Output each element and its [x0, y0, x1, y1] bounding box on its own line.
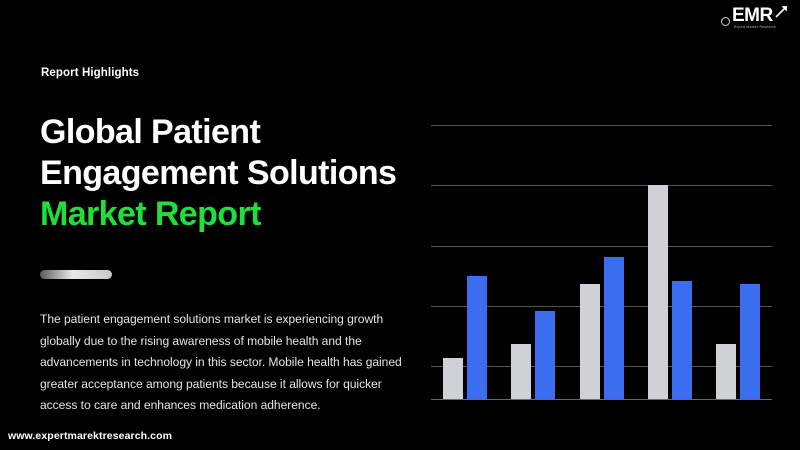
bar-1-1 — [443, 358, 463, 399]
body-paragraph: The patient engagement solutions market … — [40, 309, 420, 417]
page-title: Global Patient Engagement Solutions Mark… — [40, 112, 440, 235]
title-line-2: Engagement Solutions — [40, 153, 440, 194]
gridline — [431, 246, 772, 247]
chart-baseline-axis — [431, 399, 772, 400]
bar-5-2 — [740, 284, 760, 399]
divider-pill — [40, 270, 112, 279]
logo-tagline: Expert Market Research — [734, 25, 776, 29]
bar-2-1 — [511, 344, 531, 399]
bar-5-1 — [716, 344, 736, 399]
report-kicker: Report Highlights — [41, 67, 139, 79]
gridline — [431, 125, 772, 126]
bar-1-2 — [467, 276, 487, 399]
logo-mark: EMR Expert Market Research — [718, 6, 790, 30]
title-line-1: Global Patient — [40, 112, 440, 153]
bar-2-2 — [535, 311, 555, 399]
footer-website-url: www.expertmarektresearch.com — [8, 430, 172, 442]
bar-3-2 — [604, 257, 624, 399]
circle-icon — [721, 17, 730, 26]
title-line-3: Market Report — [40, 194, 440, 235]
bar-3-1 — [580, 284, 600, 399]
growth-arrow-icon — [775, 4, 789, 18]
emr-logo: EMR Expert Market Research — [718, 6, 790, 40]
bar-4-2 — [672, 281, 692, 399]
bar-chart — [431, 104, 772, 400]
logo-text: EMR — [732, 6, 773, 25]
slide-canvas: EMR Expert Market Research Report Highli… — [0, 0, 800, 450]
gridline — [431, 185, 772, 186]
bar-4-1 — [648, 185, 668, 399]
